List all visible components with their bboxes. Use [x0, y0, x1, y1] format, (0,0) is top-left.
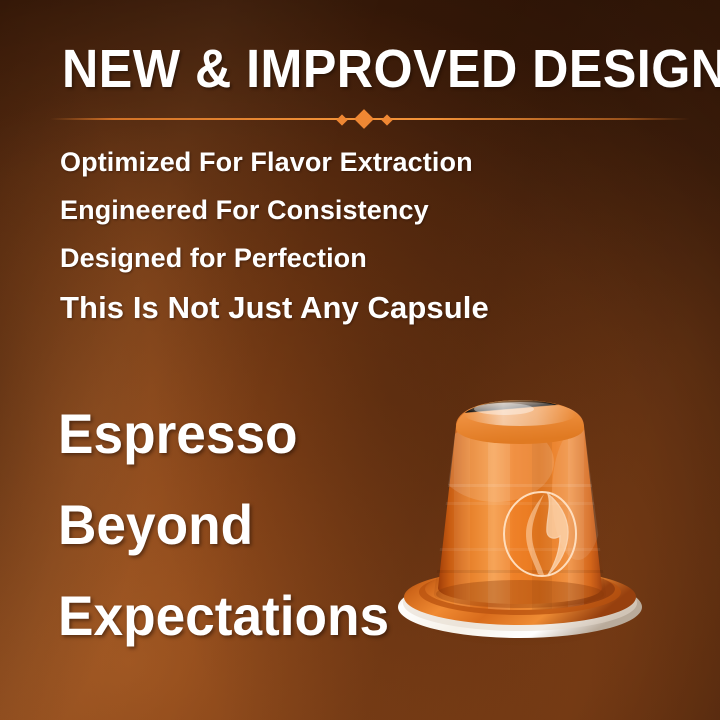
coffee-capsule-illustration — [392, 398, 648, 648]
diamond-small-right-icon — [381, 114, 392, 125]
feature-line-3: Designed for Perfection — [60, 234, 660, 282]
slogan-line-2: Beyond — [58, 479, 419, 570]
coffee-capsule-product — [392, 398, 648, 648]
slogan-line-1: Espresso — [58, 388, 419, 479]
slogan-headline: Espresso Beyond Expectations — [58, 388, 438, 661]
feature-line-4: This Is Not Just Any Capsule — [60, 282, 660, 334]
feature-line-2: Engineered For Consistency — [60, 186, 660, 234]
slogan-line-3: Expectations — [58, 570, 419, 661]
diamond-small-left-icon — [336, 114, 347, 125]
feature-line-1: Optimized For Flavor Extraction — [60, 138, 660, 186]
promo-poster: NEW & IMPROVED DESIGN Optimized For Flav… — [0, 0, 720, 720]
poster-content: NEW & IMPROVED DESIGN Optimized For Flav… — [0, 0, 720, 720]
poster-title: NEW & IMPROVED DESIGN — [62, 40, 720, 98]
diamond-center-icon — [354, 109, 374, 129]
ornamental-divider — [50, 112, 690, 126]
feature-list: Optimized For Flavor Extraction Engineer… — [60, 138, 660, 334]
capsule-base-contact-shadow — [436, 580, 604, 608]
capsule-top-gloss — [474, 403, 534, 415]
